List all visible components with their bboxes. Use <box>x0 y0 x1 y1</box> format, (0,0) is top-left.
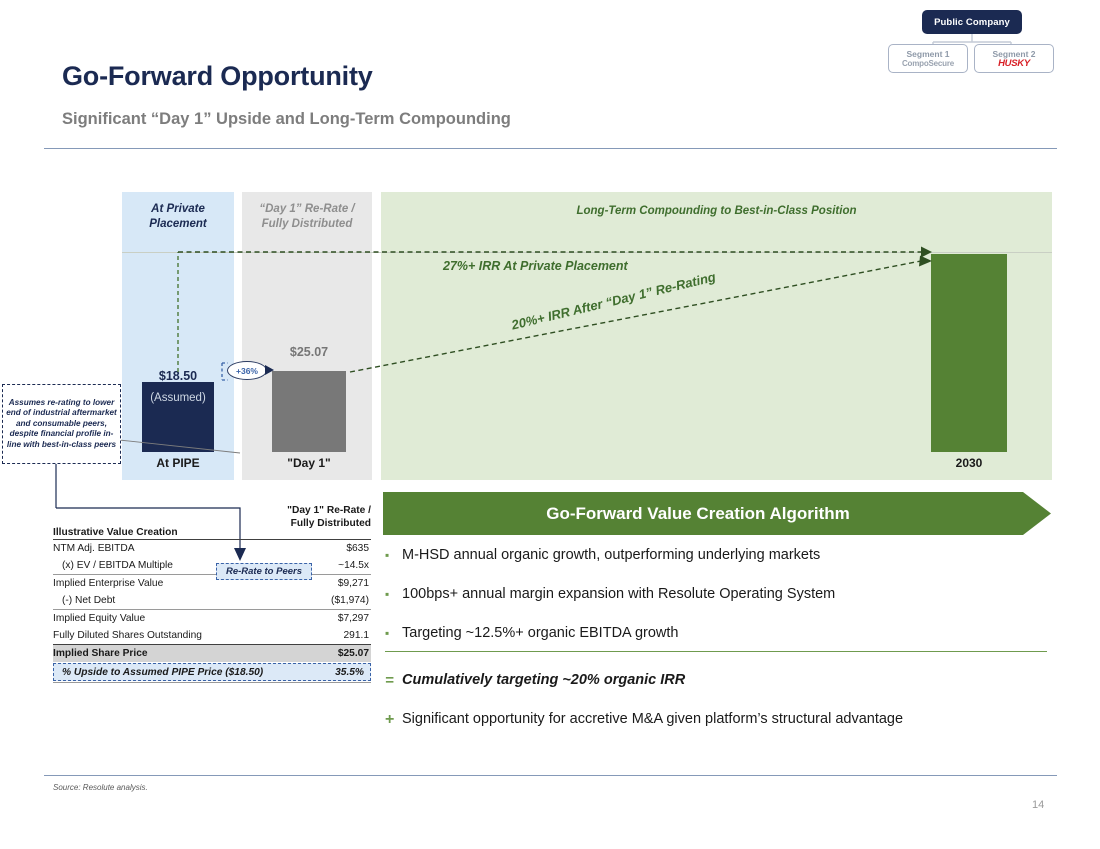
table-row: Fully Diluted Shares Outstanding 291.1 <box>53 627 371 644</box>
segment-2-label: Segment 2 <box>993 49 1036 59</box>
panel-longterm-heading: Long-Term Compounding to Best-in-Class P… <box>381 204 1052 219</box>
list-item-text: Targeting ~12.5%+ organic EBITDA growth <box>402 624 678 643</box>
panel-pipe-heading-line2: Placement <box>149 218 207 230</box>
assumption-callout-text: Assumes re-rating to lower end of indust… <box>3 398 120 450</box>
segment-1-label: Segment 1 <box>907 49 950 59</box>
bar-2030 <box>931 254 1007 452</box>
table-header-right-line1: "Day 1" Re-Rate / <box>287 505 371 516</box>
table-header-right-line2: Fully Distributed <box>291 518 371 529</box>
table-cell-label: NTM Adj. EBITDA <box>53 543 135 554</box>
table-row-upside: % Upside to Assumed PIPE Price ($18.50) … <box>53 663 371 681</box>
husky-logo: HUSKY <box>998 59 1030 69</box>
bullet-square-icon: ▪ <box>385 546 402 565</box>
table-cell-label: % Upside to Assumed PIPE Price ($18.50) <box>54 667 263 678</box>
category-label-at-pipe: At PIPE <box>142 456 214 470</box>
list-item-summary: = Cumulatively targeting ~20% organic IR… <box>385 663 1051 690</box>
panel-day1-heading-line2: Fully Distributed <box>262 218 353 230</box>
table-row: Implied Equity Value $7,297 <box>53 609 371 627</box>
segment-1-box: Segment 1 CompoSecure <box>888 44 968 73</box>
summary-divider <box>385 651 1047 652</box>
assumption-callout: Assumes re-rating to lower end of indust… <box>2 384 121 464</box>
table-cell-value: ($1,974) <box>331 595 369 606</box>
public-company-badge: Public Company <box>922 10 1022 34</box>
table-row: NTM Adj. EBITDA $635 <box>53 539 371 557</box>
value-creation-algorithm-banner: Go-Forward Value Creation Algorithm <box>383 492 1051 535</box>
segment-2-box: Segment 2 HUSKY <box>974 44 1054 73</box>
bar-value-at-pipe: $18.50 <box>142 369 214 383</box>
table-cell-value: $635 <box>346 543 369 554</box>
table-cell-label: (-) Net Debt <box>53 595 115 606</box>
table-cell-value: 291.1 <box>344 630 370 641</box>
algorithm-bullet-list: ▪ M-HSD annual organic growth, outperfor… <box>385 546 1051 749</box>
table-cell-value: $25.07 <box>338 648 369 659</box>
panel-day1-heading-line1: “Day 1” Re-Rate / <box>259 203 354 215</box>
table-cell-value: 35.5% <box>335 667 368 678</box>
table-row: (x) EV / EBITDA Multiple ~14.5x <box>53 557 371 574</box>
table-row-total: Implied Share Price $25.07 <box>53 644 371 662</box>
growth-badge-36pct: +36% <box>227 361 267 380</box>
plus-icon: + <box>385 710 402 729</box>
banner-title: Go-Forward Value Creation Algorithm <box>383 492 1013 535</box>
bullet-square-icon: ▪ <box>385 585 402 604</box>
bullet-square-icon: ▪ <box>385 624 402 643</box>
list-item: ▪ Targeting ~12.5%+ organic EBITDA growt… <box>385 624 1051 643</box>
table-cell-label: (x) EV / EBITDA Multiple <box>53 560 173 571</box>
panel-pipe-heading-line1: At Private <box>151 203 205 215</box>
panel-pipe-heading: At Private Placement <box>122 202 234 232</box>
illustrative-value-creation-table: "Day 1" Re-Rate / Fully Distributed Illu… <box>53 505 371 683</box>
list-item-additional: + Significant opportunity for accretive … <box>385 710 1051 729</box>
bar-day-1 <box>272 371 346 452</box>
table-header: "Day 1" Re-Rate / Fully Distributed Illu… <box>53 505 371 539</box>
table-row: Implied Enterprise Value $9,271 <box>53 574 371 592</box>
panel-day1-heading: “Day 1” Re-Rate / Fully Distributed <box>242 202 372 232</box>
source-note: Source: Resolute analysis. <box>53 783 148 792</box>
table-header-right: "Day 1" Re-Rate / Fully Distributed <box>287 505 371 530</box>
table-cell-value: $9,271 <box>338 578 369 589</box>
list-item-text: 100bps+ annual margin expansion with Res… <box>402 585 835 604</box>
page-title: Go-Forward Opportunity <box>62 61 373 92</box>
bar-value-day-1: $25.07 <box>272 345 346 359</box>
header-divider <box>44 148 1057 149</box>
category-label-2030: 2030 <box>931 456 1007 470</box>
list-item-text: Significant opportunity for accretive M&… <box>402 710 903 729</box>
bar-sublabel-assumed: (Assumed) <box>142 392 214 404</box>
table-cell-label: Implied Share Price <box>53 648 148 659</box>
company-structure-logo: Public Company Segment 1 CompoSecure Seg… <box>888 6 1058 74</box>
table-bottom-divider <box>53 682 371 683</box>
footer-divider <box>44 775 1057 776</box>
list-item-text: M-HSD annual organic growth, outperformi… <box>402 546 820 565</box>
table-row: (-) Net Debt ($1,974) <box>53 592 371 609</box>
table-cell-label: Fully Diluted Shares Outstanding <box>53 630 202 641</box>
table-cell-value: ~14.5x <box>338 560 369 571</box>
table-header-left: Illustrative Value Creation <box>53 527 178 538</box>
annotation-irr-at-private-placement: 27%+ IRR At Private Placement <box>443 259 628 273</box>
list-item: ▪ 100bps+ annual margin expansion with R… <box>385 585 1051 604</box>
category-label-day-1: "Day 1" <box>272 456 346 470</box>
table-cell-value: $7,297 <box>338 613 369 624</box>
page-number: 14 <box>1032 799 1044 811</box>
equals-icon: = <box>385 671 402 690</box>
list-item: ▪ M-HSD annual organic growth, outperfor… <box>385 546 1051 565</box>
list-item-text: Cumulatively targeting ~20% organic IRR <box>402 671 685 690</box>
page-subtitle: Significant “Day 1” Upside and Long-Term… <box>62 110 511 129</box>
chart-baseline-axis <box>122 252 1052 253</box>
table-cell-label: Implied Equity Value <box>53 613 145 624</box>
composecure-logo: CompoSecure <box>902 59 954 69</box>
table-cell-label: Implied Enterprise Value <box>53 578 163 589</box>
rerate-to-peers-callout: Re-Rate to Peers <box>216 563 312 580</box>
